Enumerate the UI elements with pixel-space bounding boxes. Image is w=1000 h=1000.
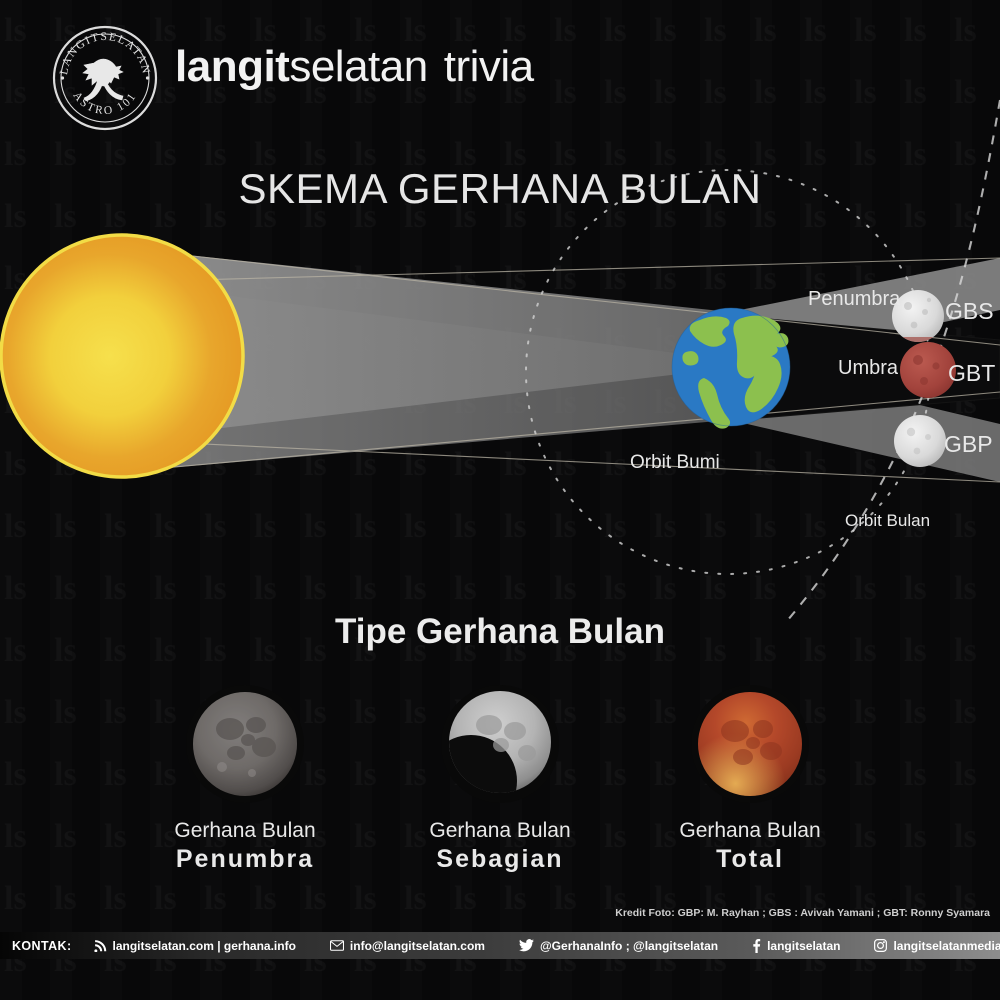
- caption-line1: Gerhana Bulan: [679, 819, 820, 842]
- footer-item-text: langitselatanmedia: [893, 939, 1000, 953]
- footer-item-text: langitselatan.com | gerhana.info: [113, 939, 296, 953]
- moon-partial-photo-icon: [441, 685, 559, 803]
- moon-penumbral-photo-icon: [186, 685, 304, 803]
- envelope-icon: [330, 940, 344, 951]
- footer-item-email[interactable]: info@langitselatan.com: [330, 939, 519, 953]
- type-caption-total: Gerhana Bulan Total: [620, 819, 880, 873]
- label-gbs: GBS: [945, 298, 994, 325]
- caption-line1: Gerhana Bulan: [429, 819, 570, 842]
- sun-icon: [0, 234, 244, 478]
- type-card-sebagian: Gerhana Bulan Sebagian: [370, 685, 630, 873]
- instagram-icon: [874, 939, 887, 952]
- type-caption-penumbra: Gerhana Bulan Penumbra: [115, 819, 375, 873]
- label-umbra: Umbra: [838, 357, 898, 380]
- footer-item-instagram[interactable]: langitselatanmedia: [874, 939, 1000, 953]
- caption-line2: Penumbra: [115, 845, 375, 873]
- eclipse-types-row: Gerhana Bulan Penumbra: [0, 685, 1000, 875]
- label-gbp: GBP: [944, 431, 993, 458]
- label-orbit-bumi: Orbit Bumi: [630, 452, 720, 474]
- footer-item-text: @GerhanaInfo ; @langitselatan: [540, 939, 718, 953]
- photo-credit: Kredit Foto: GBP: M. Rayhan ; GBS : Aviv…: [615, 907, 990, 919]
- footer-item-website[interactable]: langitselatan.com | gerhana.info: [94, 939, 330, 953]
- infographic-poster: lslslslslslslslslslslslslslslslslslslsls…: [0, 0, 1000, 1000]
- type-card-total: Gerhana Bulan Total: [620, 685, 880, 873]
- footer-item-twitter[interactable]: @GerhanaInfo ; @langitselatan: [519, 939, 752, 953]
- moon-penumbral-icon: [894, 415, 946, 467]
- label-penumbra: Penumbra: [808, 288, 900, 311]
- footer-item-text: langitselatan: [767, 939, 840, 953]
- label-gbt: GBT: [948, 360, 995, 387]
- type-card-penumbra: Gerhana Bulan Penumbra: [115, 685, 375, 873]
- footer-item-text: info@langitselatan.com: [350, 939, 485, 953]
- facebook-icon: [752, 939, 761, 953]
- rss-icon: [94, 939, 107, 952]
- caption-line1: Gerhana Bulan: [174, 819, 315, 842]
- caption-line2: Total: [620, 845, 880, 873]
- moon-total-photo-icon: [691, 685, 809, 803]
- contact-footer: KONTAK: langitselatan.com | gerhana.info…: [0, 932, 1000, 959]
- footer-label: KONTAK:: [0, 939, 94, 953]
- twitter-icon: [519, 939, 534, 952]
- types-title: Tipe Gerhana Bulan: [0, 612, 1000, 652]
- footer-item-facebook[interactable]: langitselatan: [752, 939, 874, 953]
- caption-line2: Sebagian: [370, 845, 630, 873]
- eclipse-diagram: Penumbra Umbra GBS GBT GBP Orbit Bumi Or…: [0, 0, 1000, 620]
- type-caption-sebagian: Gerhana Bulan Sebagian: [370, 819, 630, 873]
- label-orbit-bulan: Orbit Bulan: [845, 511, 930, 531]
